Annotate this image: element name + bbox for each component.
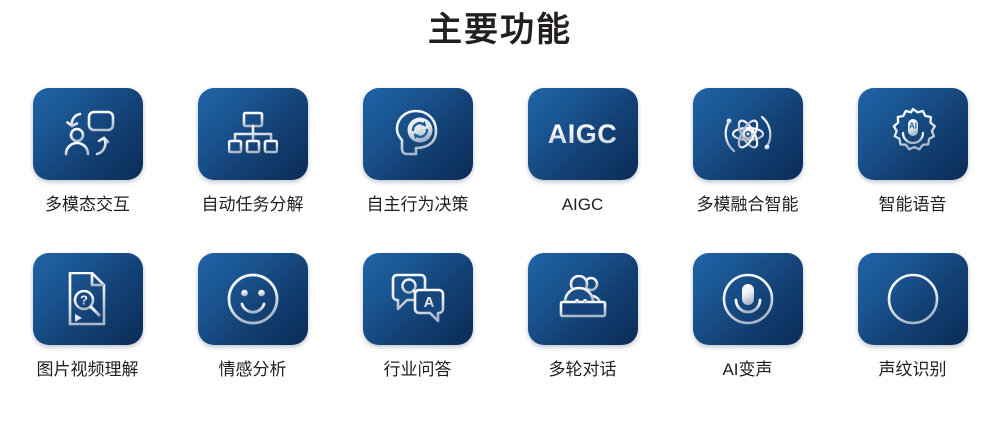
gear-microphone-ai-icon: AI — [886, 107, 940, 161]
page-title: 主要功能 — [0, 0, 1000, 54]
feature-item-aigc[interactable]: AIGC AIGC — [528, 88, 638, 215]
feature-tile[interactable] — [198, 253, 308, 345]
feature-tile[interactable] — [33, 88, 143, 180]
feature-label: 声纹识别 — [879, 360, 947, 380]
feature-item-voiceprint-recognition[interactable]: 声纹识别 — [858, 253, 968, 380]
feature-label: 情感分析 — [219, 360, 287, 380]
feature-tile[interactable] — [198, 88, 308, 180]
feature-tile[interactable] — [693, 88, 803, 180]
head-refresh-icon — [392, 108, 444, 160]
svg-text:AI: AI — [909, 122, 917, 131]
feature-tile[interactable]: ? — [33, 253, 143, 345]
feature-row: ? 图片视频理解 — [0, 253, 1000, 380]
feature-tile[interactable]: A — [363, 253, 473, 345]
feature-label: AI变声 — [722, 360, 772, 380]
feature-item-image-video-understanding[interactable]: ? 图片视频理解 — [33, 253, 143, 380]
feature-label: 自动任务分解 — [202, 195, 304, 215]
aigc-text-icon: AIGC — [548, 121, 618, 148]
feature-item-autonomous-decision[interactable]: 自主行为决策 — [363, 88, 473, 215]
feature-grid: 多模态交互 — [0, 88, 1000, 418]
person-screen-exchange-icon — [59, 108, 117, 160]
feature-label: 智能语音 — [879, 195, 947, 215]
feature-item-multi-turn-dialogue[interactable]: 多轮对话 — [528, 253, 638, 380]
feature-row: 多模态交互 — [0, 88, 1000, 215]
feature-tile[interactable] — [858, 253, 968, 345]
feature-label: 多模态交互 — [45, 195, 130, 215]
feature-tile[interactable] — [528, 253, 638, 345]
speech-bubbles-qa-icon: A — [390, 273, 446, 325]
atom-orbit-icon — [720, 106, 776, 162]
feature-tile[interactable] — [693, 253, 803, 345]
feature-item-multimodal-fusion[interactable]: 多模融合智能 — [693, 88, 803, 215]
feature-label: 自主行为决策 — [367, 195, 469, 215]
smiley-face-icon — [226, 272, 280, 326]
feature-label: 多轮对话 — [549, 360, 617, 380]
feature-label: 图片视频理解 — [37, 360, 139, 380]
voiceprint-waveform-circle-icon — [886, 272, 940, 326]
feature-item-auto-task-decomposition[interactable]: 自动任务分解 — [198, 88, 308, 215]
feature-label: AIGC — [562, 195, 604, 215]
feature-item-ai-voice-changer[interactable]: AI变声 — [693, 253, 803, 380]
document-magnifier-question-icon: ? — [64, 272, 112, 326]
feature-label: 多模融合智能 — [697, 195, 799, 215]
feature-tile[interactable]: AIGC — [528, 88, 638, 180]
feature-tile[interactable] — [363, 88, 473, 180]
feature-item-industry-qa[interactable]: A 行业问答 — [363, 253, 473, 380]
svg-text:A: A — [423, 294, 434, 311]
svg-text:?: ? — [80, 293, 88, 308]
feature-item-sentiment-analysis[interactable]: 情感分析 — [198, 253, 308, 380]
feature-label: 行业问答 — [384, 360, 452, 380]
feature-item-multimodal-interaction[interactable]: 多模态交互 — [33, 88, 143, 215]
feature-item-intelligent-voice[interactable]: AI 智能语音 — [858, 88, 968, 215]
hierarchy-chart-icon — [228, 111, 278, 157]
people-table-dialogue-icon — [555, 275, 611, 323]
microphone-circle-icon — [721, 272, 775, 326]
feature-tile[interactable]: AI — [858, 88, 968, 180]
